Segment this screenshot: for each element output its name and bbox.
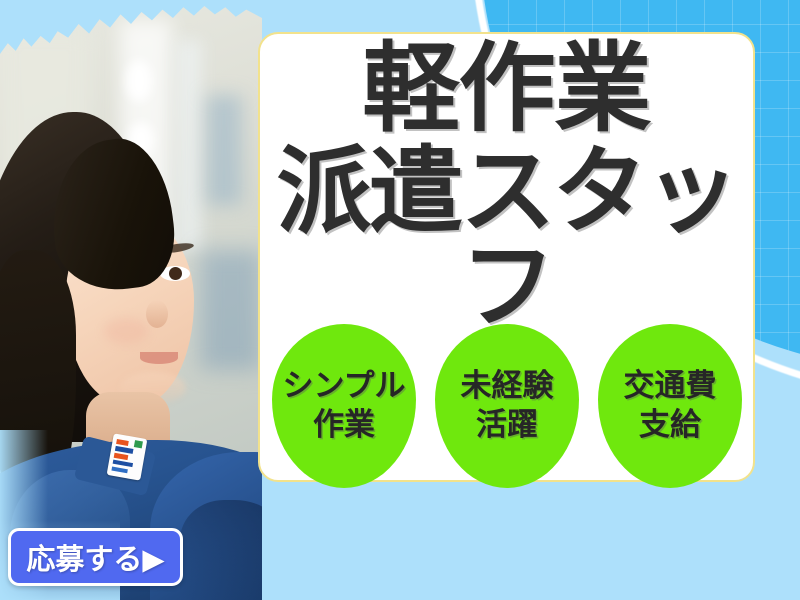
photo-highlight bbox=[126, 60, 152, 102]
photo-name-badge-stripe bbox=[113, 460, 133, 467]
apply-button[interactable]: 応募する▶ bbox=[8, 528, 183, 586]
feature-badge-no-experience: 未経験 活躍 bbox=[435, 324, 579, 488]
feature-badge-line-1: 未経験 bbox=[461, 370, 554, 403]
photo-blur-shape bbox=[176, 40, 202, 250]
photo-iris bbox=[169, 267, 182, 280]
photo-mouth bbox=[140, 352, 178, 364]
feature-badge-line-1: 交通費 bbox=[624, 370, 717, 403]
feature-badge-line-2: 作業 bbox=[313, 409, 375, 442]
headline-line-2: 派遣スタッフ bbox=[258, 145, 755, 335]
apply-button-label: 応募する▶ bbox=[26, 536, 164, 578]
photo-cheek bbox=[104, 318, 148, 344]
feature-badge-line-2: 支給 bbox=[639, 409, 701, 442]
photo-blur-shape bbox=[206, 95, 242, 205]
feature-badge-line-2: 活躍 bbox=[476, 409, 538, 442]
photo-name-badge bbox=[107, 433, 148, 480]
feature-badges: シンプル 作業 未経験 活躍 交通費 支給 bbox=[272, 324, 742, 488]
staff-photo bbox=[0, 0, 262, 600]
feature-badge-simple-work: シンプル 作業 bbox=[272, 324, 416, 488]
job-ad-banner: 軽作業 派遣スタッフ シンプル 作業 未経験 活躍 交通費 支給 応募する▶ bbox=[0, 0, 800, 600]
photo-name-badge-accent bbox=[134, 440, 143, 448]
feature-badge-transport-allowance: 交通費 支給 bbox=[598, 324, 742, 488]
photo-nose bbox=[146, 300, 168, 328]
feature-badge-line-1: シンプル bbox=[282, 370, 405, 403]
photo-name-badge-stripe bbox=[116, 439, 129, 446]
photo-name-badge-stripe bbox=[111, 467, 127, 474]
headline: 軽作業 派遣スタッフ bbox=[258, 40, 755, 335]
photo-blur-shape bbox=[200, 250, 262, 370]
headline-line-1: 軽作業 bbox=[258, 40, 755, 137]
photo-name-badge-stripe bbox=[114, 453, 129, 460]
